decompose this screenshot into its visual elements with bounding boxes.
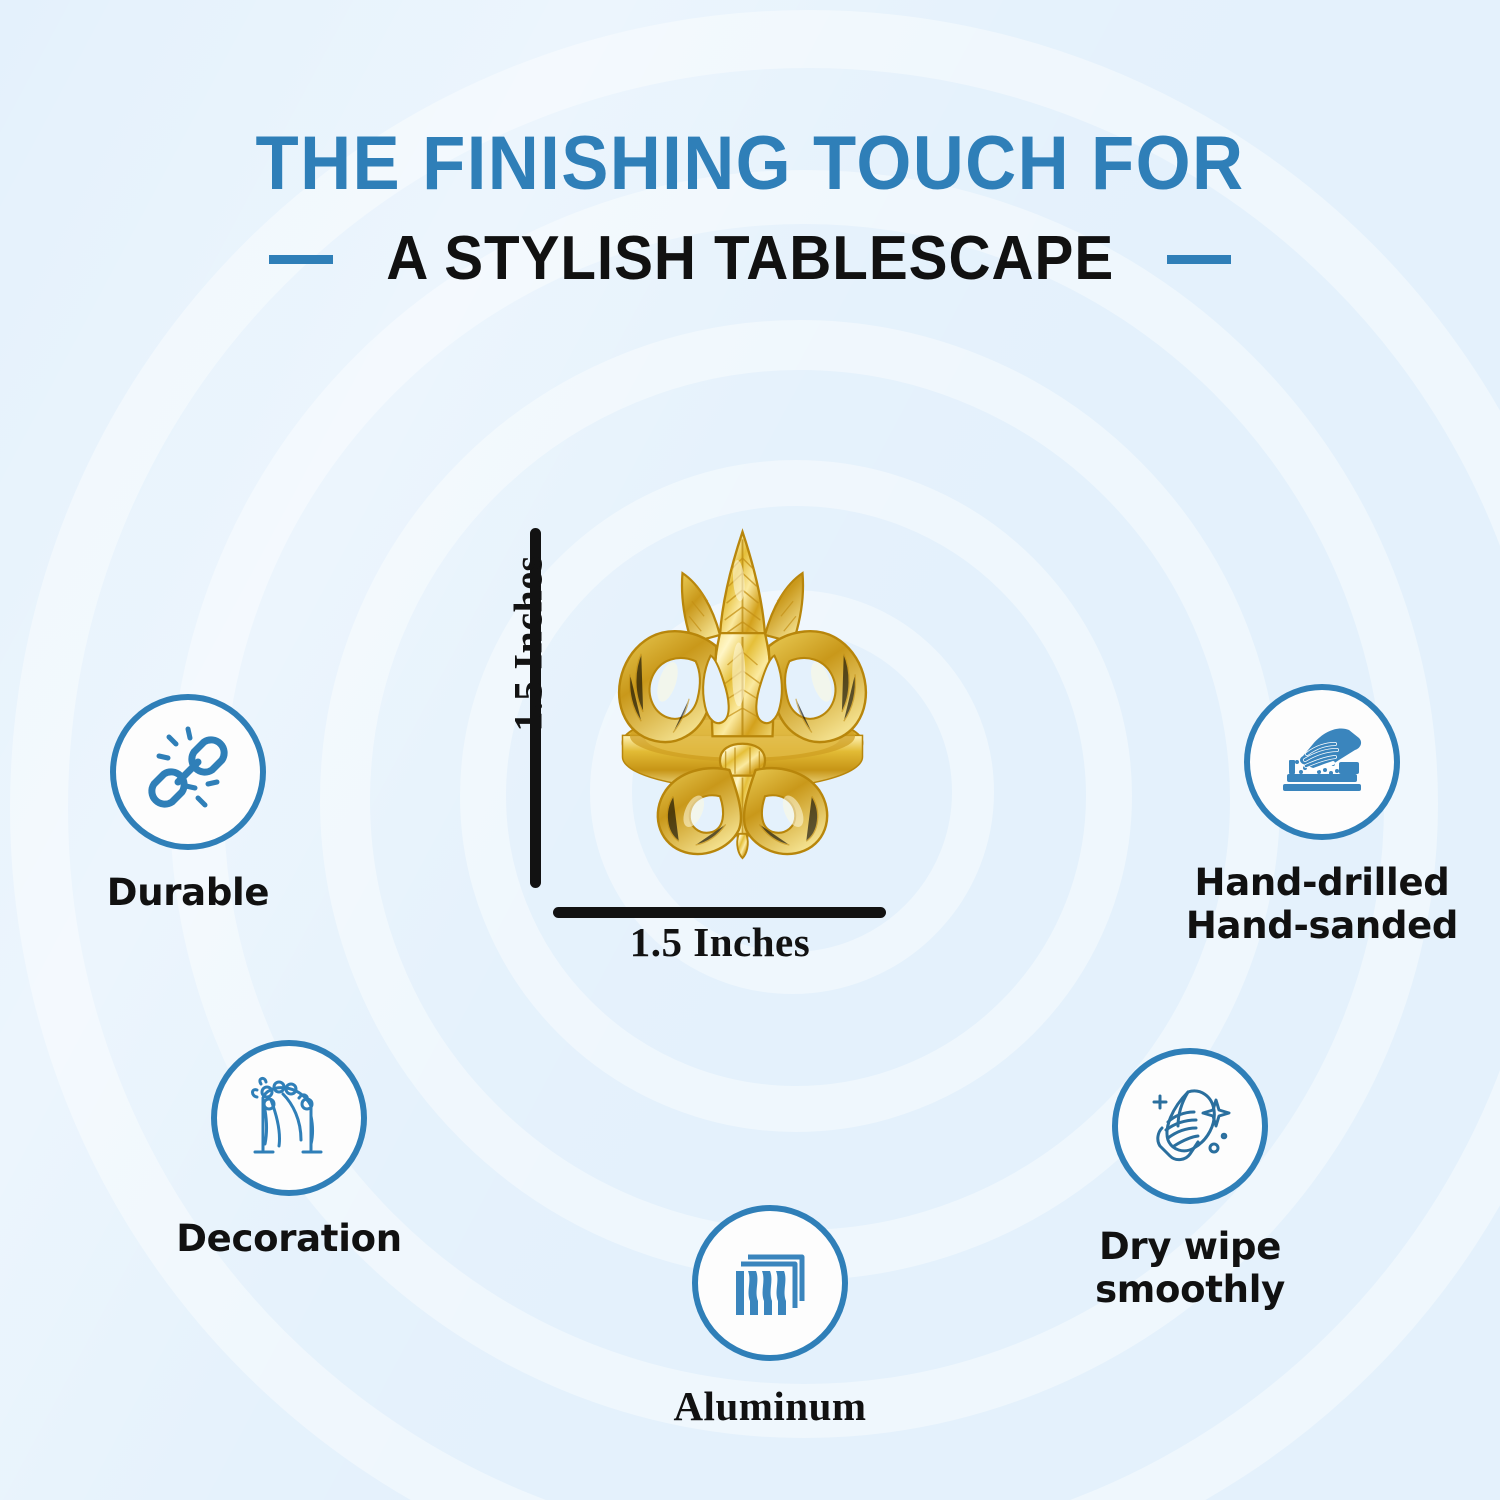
feature-label-line-2: smoothly (1030, 1269, 1350, 1312)
height-dimension-label: 1.5 Inches (505, 524, 552, 764)
feature-durable[interactable]: Durable (28, 694, 348, 915)
feature-badge-circle (110, 694, 266, 850)
feature-badge-circle (1244, 684, 1400, 840)
feature-badge-circle (692, 1205, 848, 1361)
feature-label-line-1: Dry wipe (1030, 1226, 1350, 1269)
aluminum-sheets-icon (724, 1237, 816, 1329)
floral-arch-icon (241, 1070, 337, 1166)
feature-aluminum[interactable]: Aluminum (610, 1205, 930, 1430)
feature-hand-finished[interactable]: Hand-drilled Hand-sanded (1152, 684, 1492, 947)
right-dash-icon (1167, 255, 1231, 264)
product-stage: 1.5 Inches 1.5 Inches (470, 500, 930, 970)
product-image-fleur-de-lis-napkin-ring (555, 515, 930, 890)
horizontal-dimension-line (553, 907, 886, 918)
width-dimension-label: 1.5 Inches (530, 918, 910, 966)
header-block: THE FINISHING TOUCH FOR A STYLISH TABLES… (0, 126, 1500, 290)
feature-label: Durable (28, 872, 348, 915)
feature-label: Aluminum (610, 1383, 930, 1430)
feature-badge-circle (211, 1040, 367, 1196)
infographic-canvas: THE FINISHING TOUCH FOR A STYLISH TABLES… (0, 0, 1500, 1500)
feature-decoration[interactable]: Decoration (129, 1040, 449, 1261)
feature-label: Decoration (129, 1218, 449, 1261)
page-subtitle: A STYLISH TABLESCAPE (386, 228, 1114, 290)
feature-label-line-1: Hand-drilled (1152, 862, 1492, 905)
feature-label: Hand-drilled Hand-sanded (1152, 862, 1492, 947)
left-dash-icon (269, 255, 333, 264)
feature-dry-wipe[interactable]: Dry wipe smoothly (1030, 1048, 1350, 1311)
chain-link-icon (142, 726, 234, 818)
hand-wiping-cloth-icon (1142, 1078, 1238, 1174)
feature-label: Dry wipe smoothly (1030, 1226, 1350, 1311)
hand-sanding-icon (1273, 716, 1371, 808)
feature-badge-circle (1112, 1048, 1268, 1204)
page-title: THE FINISHING TOUCH FOR (53, 126, 1448, 202)
subtitle-row: A STYLISH TABLESCAPE (0, 228, 1500, 290)
feature-label-line-2: Hand-sanded (1152, 905, 1492, 948)
